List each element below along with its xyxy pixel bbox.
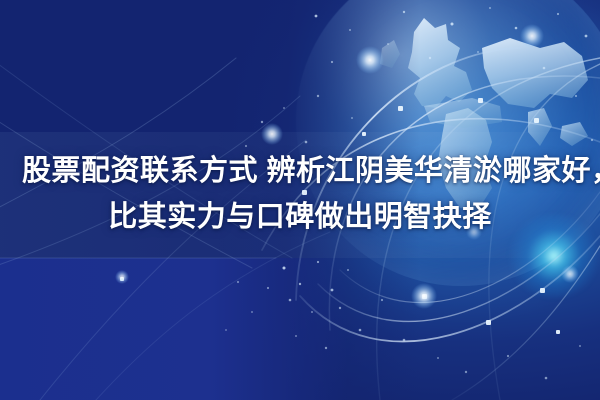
- headline-line-2: 比其实力与口碑做出明智抉择: [22, 194, 578, 240]
- headline-line-1: 股票配资联系方式 辨析江阴美华清淤哪家好，对: [22, 155, 600, 187]
- page-title: 股票配资联系方式 辨析江阴美华清淤哪家好，对 比其实力与口碑做出明智抉择: [22, 148, 578, 240]
- article-banner: 股票配资联系方式 辨析江阴美华清淤哪家好，对 比其实力与口碑做出明智抉择: [0, 0, 600, 400]
- headline-block: 股票配资联系方式 辨析江阴美华清淤哪家好，对 比其实力与口碑做出明智抉择: [0, 148, 600, 240]
